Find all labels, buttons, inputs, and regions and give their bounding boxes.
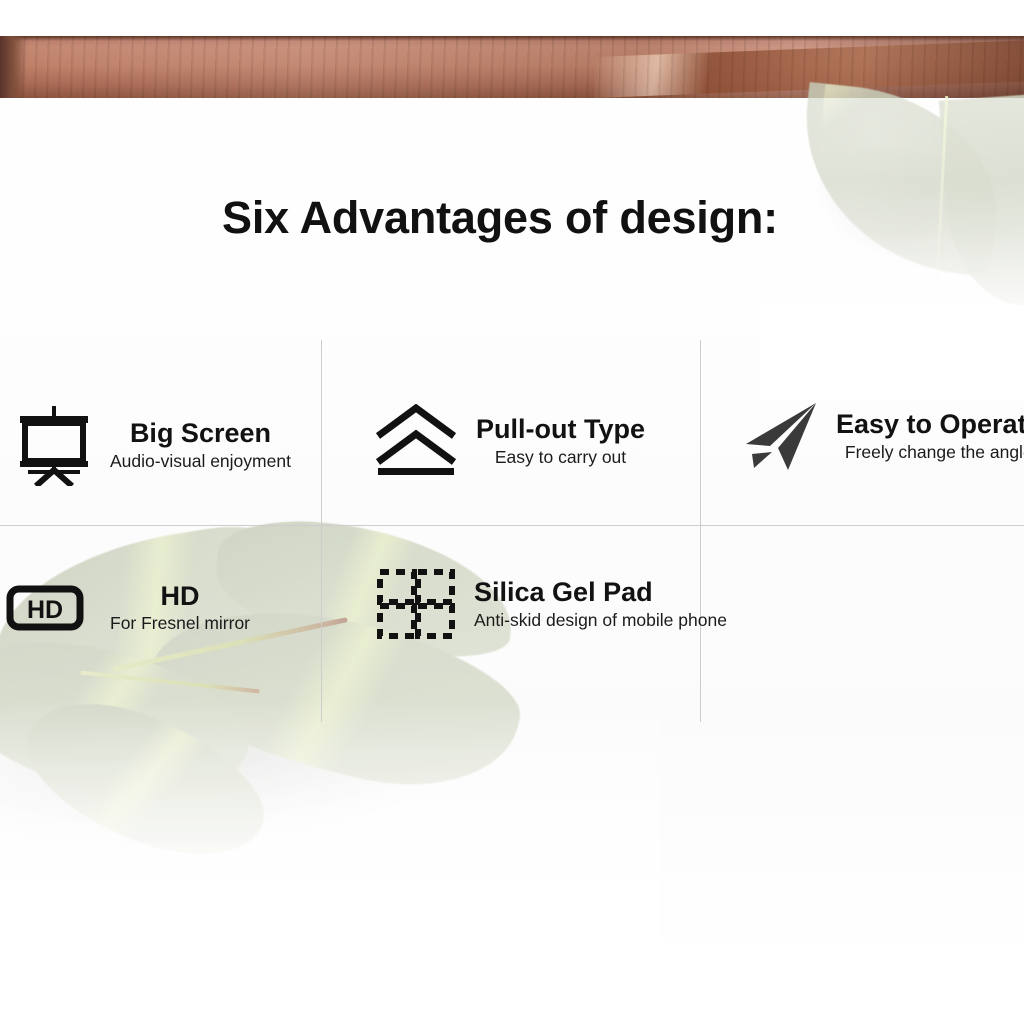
feature-title: HD <box>161 582 200 610</box>
projector-screen-icon <box>14 404 94 486</box>
feature-hd-texts: HD For Fresnel mirror <box>110 582 250 634</box>
feature-subtitle: For Fresnel mirror <box>110 613 250 633</box>
feature-subtitle: Audio-visual enjoyment <box>110 451 291 471</box>
double-chevron-up-icon <box>372 404 460 478</box>
feature-hd: HD HD For Fresnel mirror <box>6 582 250 634</box>
page-title: Six Advantages of design: <box>0 192 1024 244</box>
feature-big-screen: Big Screen Audio-visual enjoyment <box>14 404 291 486</box>
feature-title: Big Screen <box>130 419 271 447</box>
hd-badge-icon: HD <box>6 585 84 631</box>
feature-silica-gel-pad-texts: Silica Gel Pad Anti-skid design of mobil… <box>474 578 727 630</box>
feature-pull-out-type: Pull-out Type Easy to carry out <box>372 404 645 478</box>
feature-subtitle: Easy to carry out <box>495 447 626 467</box>
dashed-grid-icon <box>376 568 456 640</box>
feature-title: Easy to Operate <box>836 410 1024 438</box>
content-layer: Six Advantages of design: Big Screen <box>0 0 1024 1024</box>
grid-divider-horizontal <box>0 525 1024 526</box>
feature-pull-out-type-texts: Pull-out Type Easy to carry out <box>476 415 645 467</box>
feature-title: Pull-out Type <box>476 415 645 443</box>
feature-subtitle: Freely change the angle <box>845 442 1024 462</box>
grid-divider-vertical-2 <box>700 340 701 722</box>
feature-silica-gel-pad: Silica Gel Pad Anti-skid design of mobil… <box>376 568 727 640</box>
feature-subtitle: Anti-skid design of mobile phone <box>474 610 727 630</box>
feature-title: Silica Gel Pad <box>474 578 653 606</box>
feature-easy-to-operate-texts: Easy to Operate Freely change the angle <box>836 410 1024 462</box>
paper-plane-icon <box>740 400 824 472</box>
grid-divider-vertical-1 <box>321 340 322 722</box>
svg-text:HD: HD <box>27 596 63 624</box>
feature-big-screen-texts: Big Screen Audio-visual enjoyment <box>110 419 291 471</box>
feature-easy-to-operate: Easy to Operate Freely change the angle <box>740 400 1024 472</box>
product-infographic: Six Advantages of design: Big Screen <box>0 0 1024 1024</box>
